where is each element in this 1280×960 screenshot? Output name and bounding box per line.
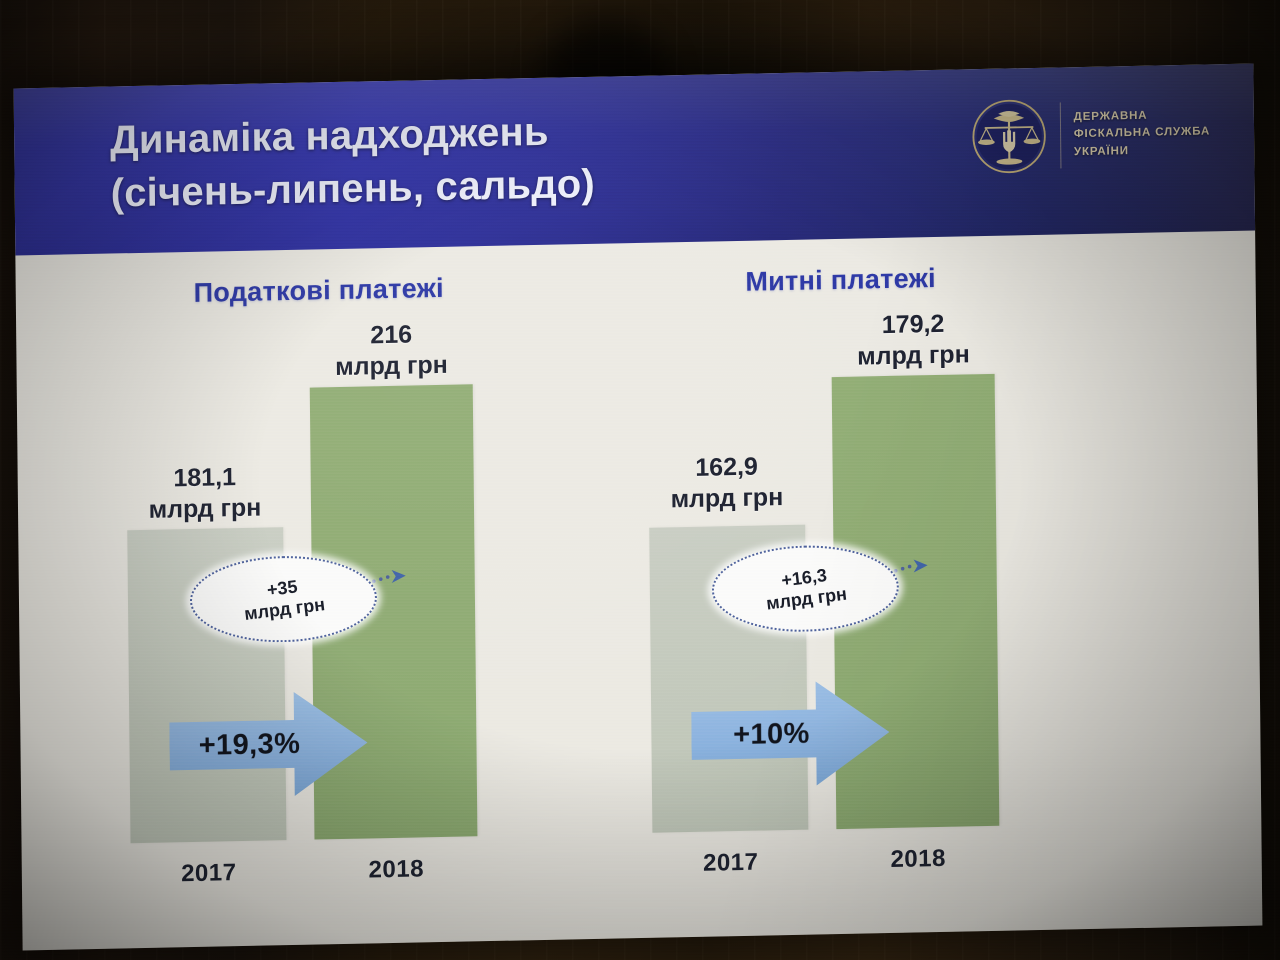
projected-slide-photo: Динаміка надходжень (січень-липень, саль… (0, 0, 1280, 960)
axis-label-2018: 2018 (837, 844, 1000, 875)
bar-plot-customs-payments: 162,9 млрд грн 179,2 млрд грн + (631, 313, 1057, 881)
growth-percent-text: +19,3% (169, 727, 313, 763)
agency-logo-block: ДЕРЖАВНА ФІСКАЛЬНА СЛУЖБА УКРАЇНИ (970, 94, 1210, 175)
bar-value-label-2017: 162,9 млрд грн (626, 450, 827, 515)
delta-callout-text: +35 млрд грн (241, 573, 326, 625)
charts-area: Податкові платежі 181,1 млрд грн 216 млр… (15, 231, 1262, 951)
bar-value-label-2018: 216 млрд грн (291, 318, 492, 383)
slide-canvas: Динаміка надходжень (січень-липень, саль… (14, 64, 1263, 951)
agency-name-text: ДЕРЖАВНА ФІСКАЛЬНА СЛУЖБА УКРАЇНИ (1074, 106, 1211, 161)
growth-percent-text: +10% (691, 717, 835, 753)
axis-label-2018: 2018 (315, 854, 478, 885)
bar-value-label-2018: 179,2 млрд грн (813, 307, 1014, 372)
chart-title-tax-payments: Податкові платежі (54, 270, 584, 312)
chart-panel-customs-payments: Митні платежі 162,9 млрд грн 179,2 млрд … (575, 234, 1112, 940)
slide-header-band: Динаміка надходжень (січень-липень, саль… (14, 64, 1255, 256)
delta-callout-text: +16,3 млрд грн (763, 563, 848, 615)
scales-of-justice-emblem-icon (970, 98, 1047, 176)
presentation-slide: Динаміка надходжень (січень-липень, саль… (14, 64, 1263, 951)
bar-plot-tax-payments: 181,1 млрд грн 216 млрд грн +35 (109, 323, 535, 891)
chart-title-customs-payments: Митні платежі (576, 260, 1106, 302)
axis-label-2017: 2017 (653, 848, 809, 879)
axis-label-2017: 2017 (131, 858, 287, 889)
logo-divider (1059, 102, 1061, 168)
chart-panel-tax-payments: Податкові платежі 181,1 млрд грн 216 млр… (53, 244, 590, 950)
bar-value-label-2017: 181,1 млрд грн (105, 461, 306, 526)
slide-title: Динаміка надходжень (січень-липень, саль… (110, 99, 871, 220)
